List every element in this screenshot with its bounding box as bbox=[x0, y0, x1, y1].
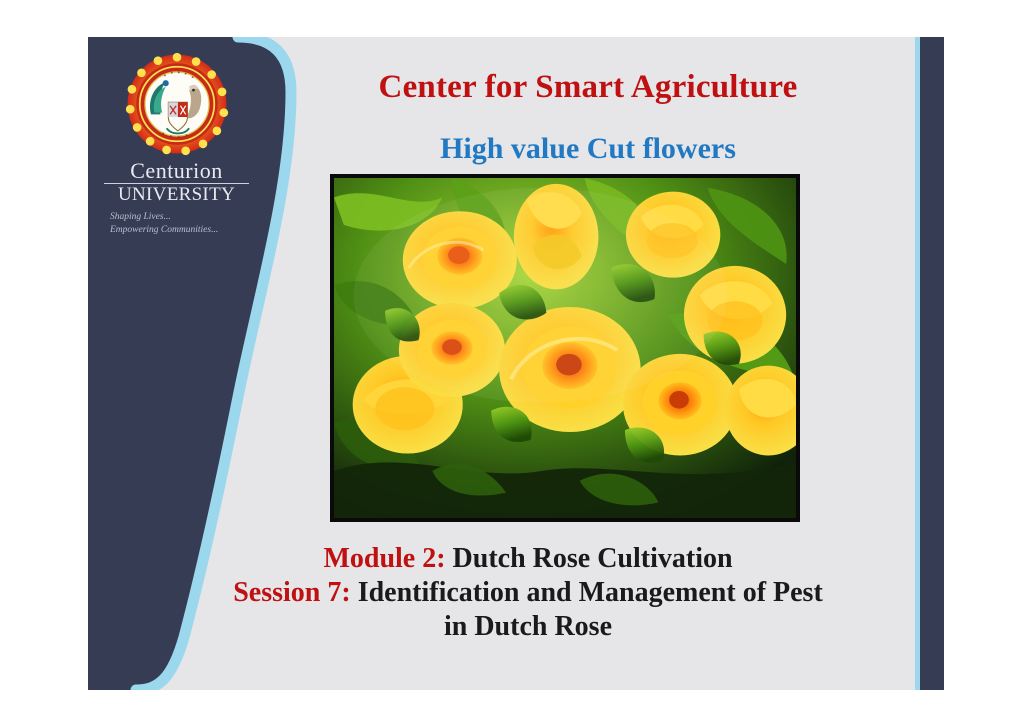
presentation-slide: Centurion UNIVERSITY Shaping Lives... Em… bbox=[88, 37, 944, 690]
session-title-line1: Identification and Management of Pest bbox=[358, 577, 823, 608]
module-label: Module 2: bbox=[323, 543, 445, 574]
yellow-roses-photo bbox=[330, 174, 800, 522]
slide-title: Center for Smart Agriculture bbox=[238, 69, 938, 106]
university-crest-icon bbox=[125, 52, 229, 156]
logo-tagline-line2: Empowering Communities... bbox=[104, 224, 249, 237]
caption-session-line2: in Dutch Rose bbox=[148, 610, 908, 644]
logo-wordmark: Centurion UNIVERSITY Shaping Lives... Em… bbox=[104, 160, 249, 237]
slide-caption: Module 2: Dutch Rose Cultivation Session… bbox=[148, 542, 908, 644]
caption-module-line: Module 2: Dutch Rose Cultivation bbox=[148, 542, 908, 576]
logo-tagline-line1: Shaping Lives... bbox=[104, 211, 249, 224]
caption-session-line: Session 7: Identification and Management… bbox=[148, 576, 908, 610]
logo-name-line2: UNIVERSITY bbox=[104, 185, 249, 204]
slide-subtitle: High value Cut flowers bbox=[238, 132, 938, 166]
university-logo: Centurion UNIVERSITY Shaping Lives... Em… bbox=[104, 52, 249, 237]
logo-name-line1: Centurion bbox=[104, 160, 249, 184]
module-title: Dutch Rose Cultivation bbox=[453, 543, 733, 574]
session-label: Session 7: bbox=[233, 577, 350, 608]
